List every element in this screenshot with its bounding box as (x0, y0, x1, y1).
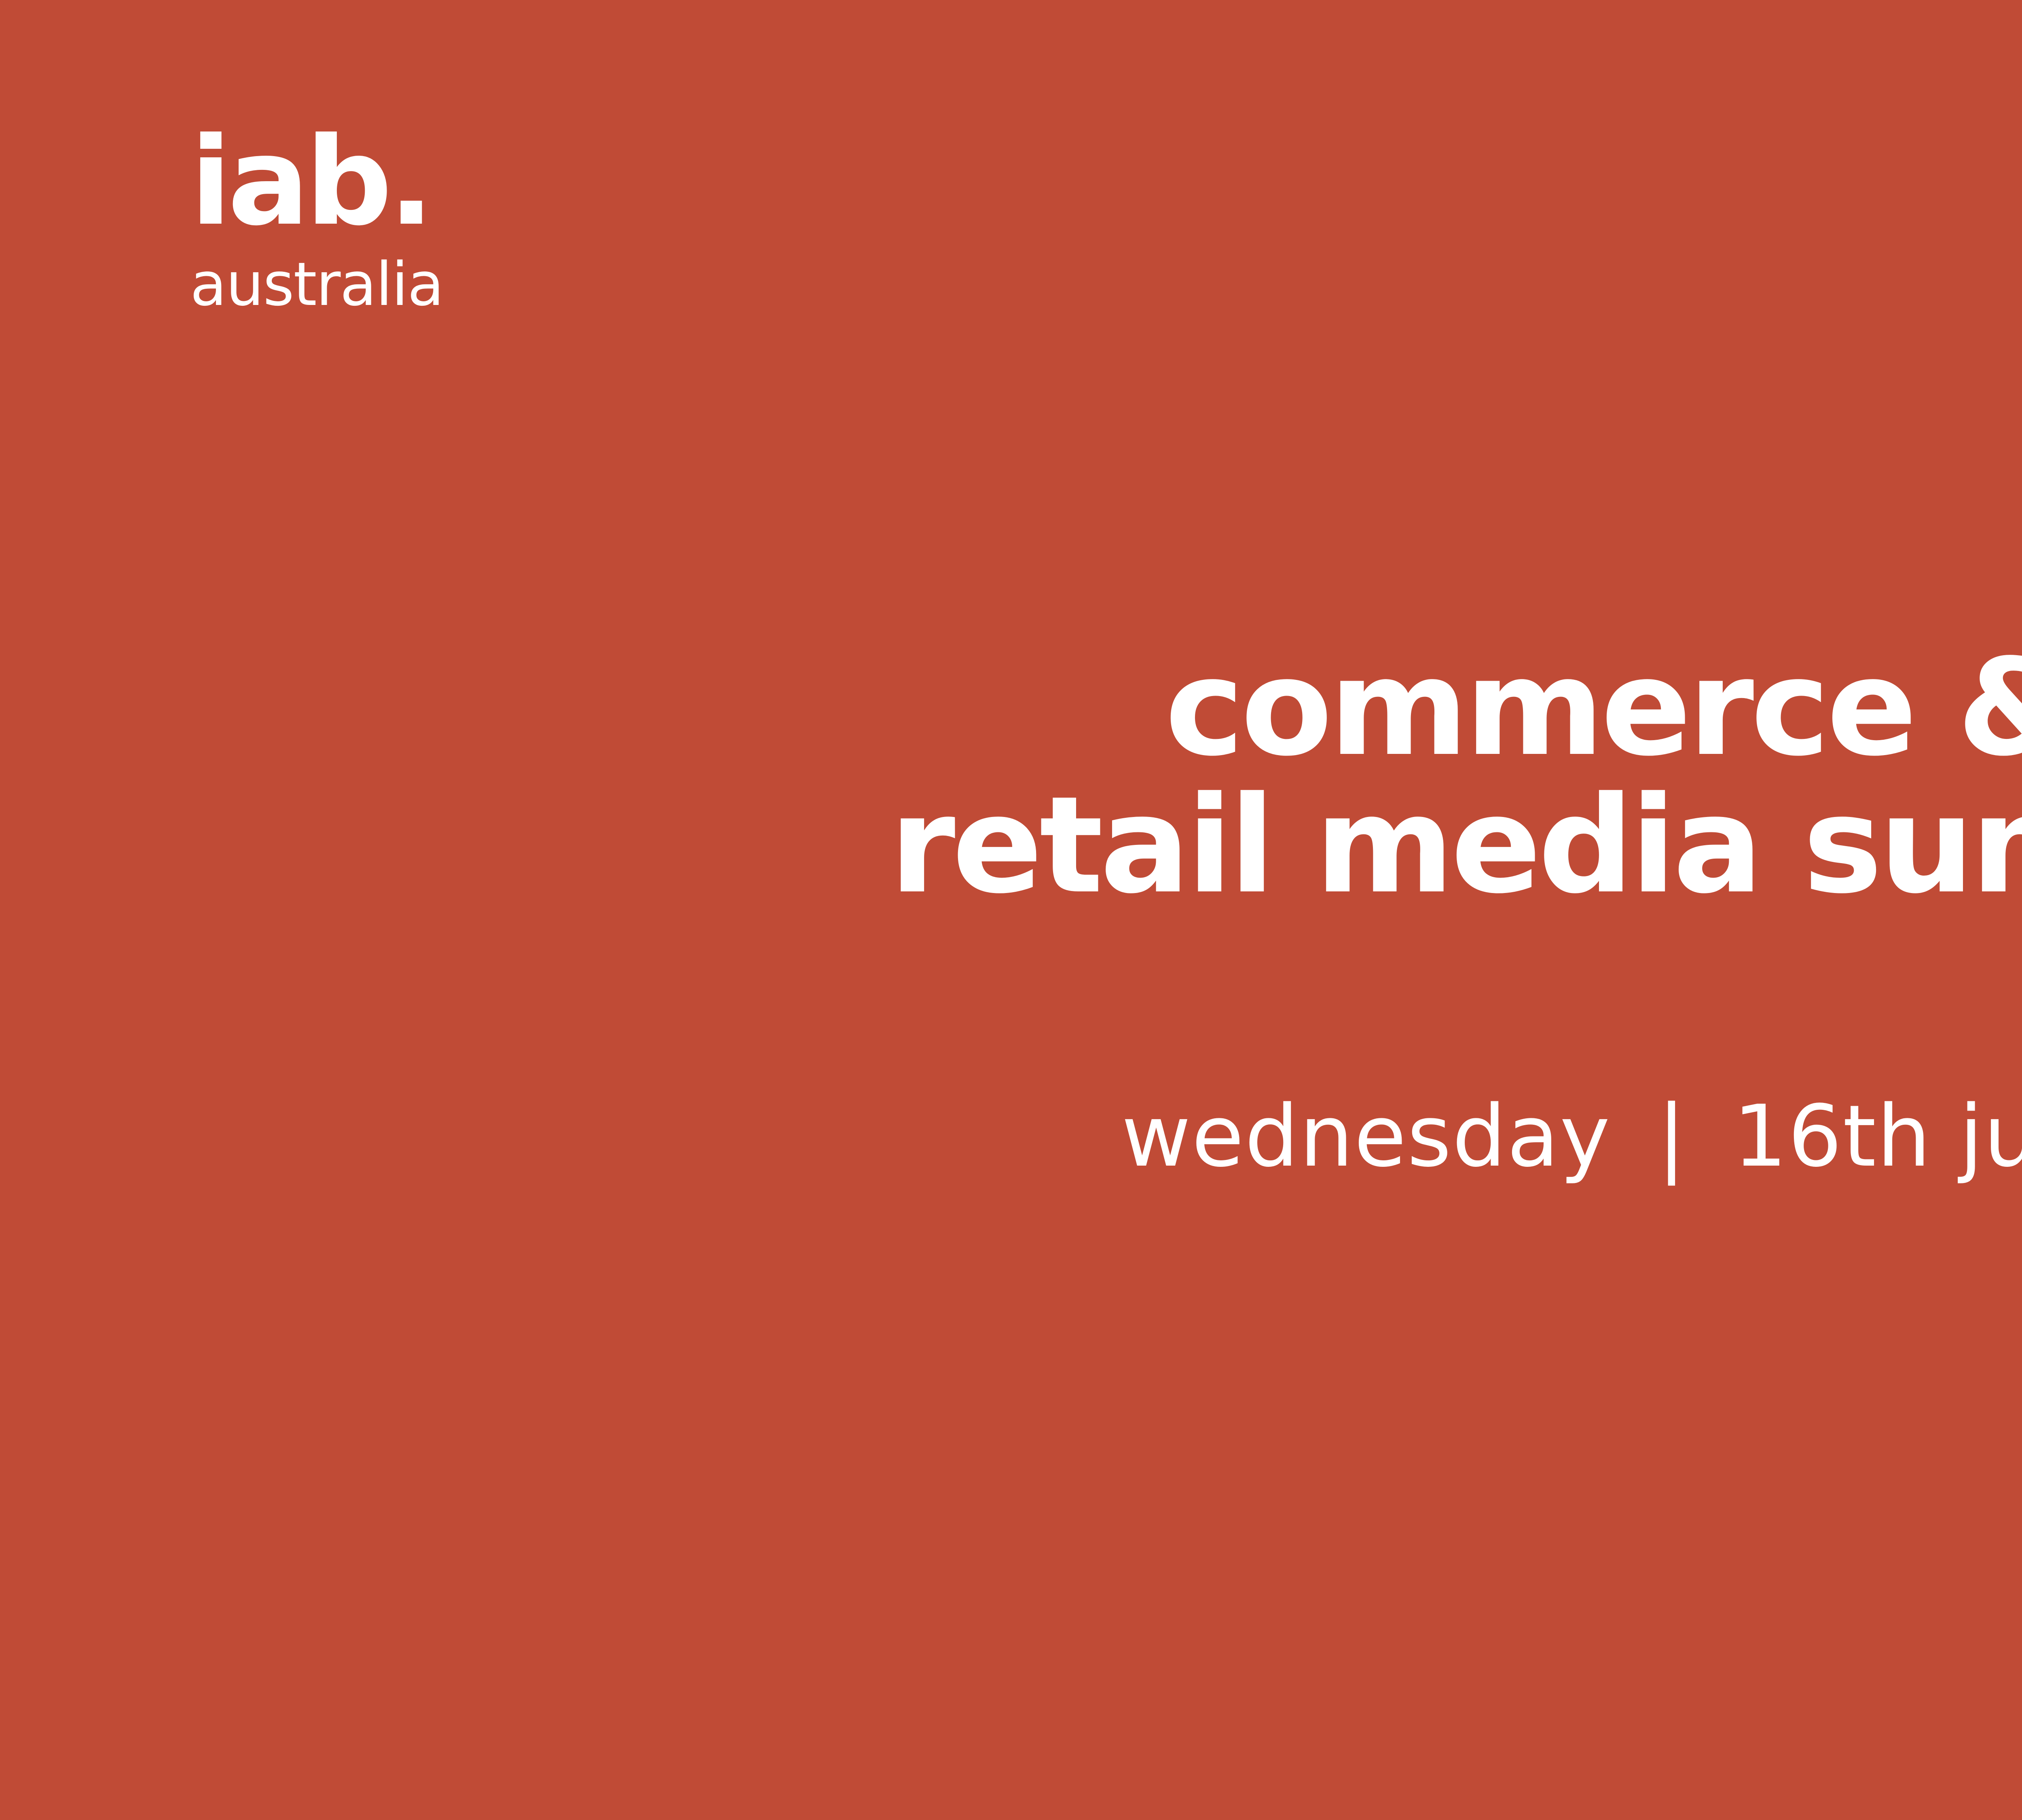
iab-logo-wordmark: iab. (190, 121, 473, 247)
iab-australia-logo: iab. australia (190, 121, 473, 336)
page-title: commerce & retail media summit (0, 639, 2022, 914)
iab-logo-subtext: australia (190, 254, 473, 315)
event-banner: iab. australia NSW commerce & retail med… (0, 0, 2022, 1820)
event-day: wednesday (1121, 1087, 1611, 1186)
event-details: commerce & retail media summit wednesday… (0, 639, 2022, 1181)
date-separator: | (1639, 1092, 1705, 1181)
event-date-text: 16th july (1733, 1087, 2022, 1186)
title-line-1: commerce & (0, 639, 2022, 777)
title-line-2: retail media summit (0, 777, 2022, 914)
event-date: wednesday | 16th july (0, 1092, 2022, 1181)
